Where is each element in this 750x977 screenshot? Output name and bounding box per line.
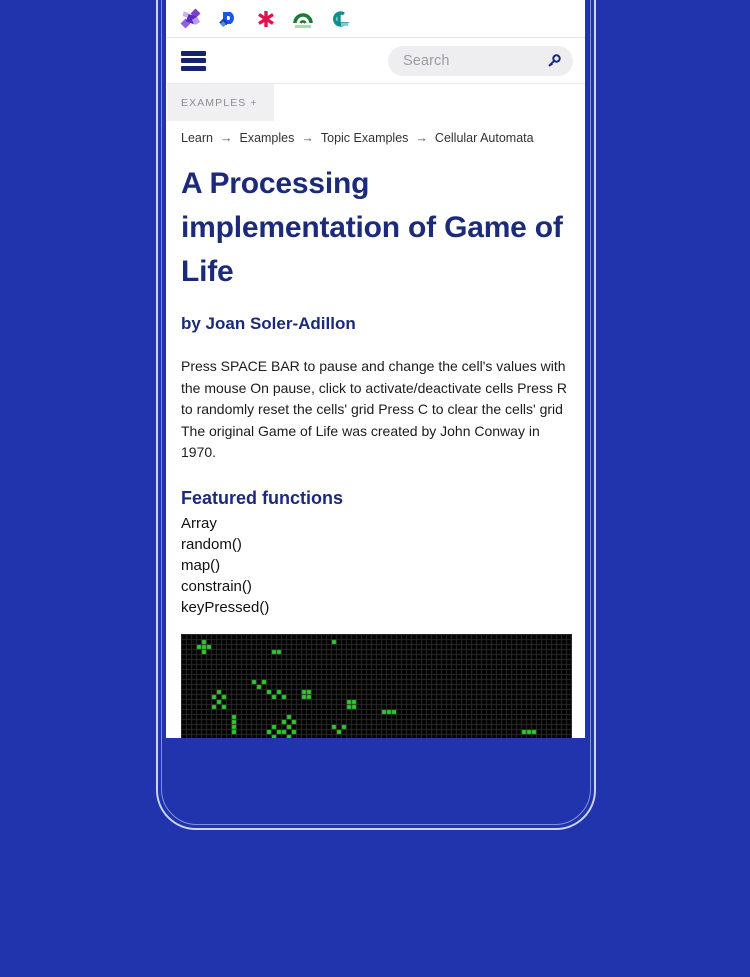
breadcrumb-item-cellular-automata[interactable]: Cellular Automata <box>435 131 534 145</box>
article-content: A Processing implementation of Game of L… <box>167 162 585 618</box>
list-item[interactable]: constrain() <box>181 576 571 597</box>
search-input[interactable]: Search <box>388 46 573 76</box>
author-byline: by Joan Soler-Adillon <box>181 314 571 334</box>
processing-foundation-logo[interactable] <box>180 5 217 33</box>
hamburger-menu-icon[interactable] <box>181 51 206 71</box>
hamburger-bar <box>181 58 206 63</box>
breadcrumb-separator-icon: → <box>294 131 321 145</box>
list-item[interactable]: random() <box>181 534 571 555</box>
logo-bar <box>167 0 585 38</box>
sketch-container <box>167 634 585 739</box>
list-item[interactable]: keyPressed() <box>181 597 571 618</box>
tab-examples[interactable]: EXAMPLES + <box>167 84 274 121</box>
breadcrumb-separator-icon: → <box>408 131 435 145</box>
article-description: Press SPACE BAR to pause and change the … <box>181 356 571 464</box>
tab-row: EXAMPLES + <box>167 84 585 121</box>
featured-functions-list: Array random() map() constrain() keyPres… <box>181 513 571 618</box>
navigation-bar: Search <box>167 38 585 84</box>
processing-logo[interactable] <box>254 5 291 33</box>
breadcrumb-separator-icon: → <box>213 131 240 145</box>
game-of-life-canvas[interactable] <box>181 634 572 739</box>
breadcrumb: Learn → Examples → Topic Examples → Cell… <box>167 121 585 145</box>
breadcrumb-item-examples[interactable]: Examples <box>239 131 294 145</box>
hamburger-bar <box>181 66 206 71</box>
page-title: A Processing implementation of Game of L… <box>181 162 571 294</box>
search-icon[interactable] <box>547 54 561 68</box>
list-item[interactable]: map() <box>181 555 571 576</box>
processing-py-logo[interactable] <box>291 5 328 33</box>
search-placeholder: Search <box>403 53 450 69</box>
list-item[interactable]: Array <box>181 513 571 534</box>
breadcrumb-item-topic-examples[interactable]: Topic Examples <box>321 131 409 145</box>
p5js-logo[interactable] <box>217 5 254 33</box>
breadcrumb-item-learn[interactable]: Learn <box>181 131 213 145</box>
p5js-editor-logo[interactable] <box>328 5 365 33</box>
phone-screen: Search EXAMPLES + Learn → Examples → Top… <box>166 0 585 738</box>
hamburger-bar <box>181 51 206 56</box>
featured-functions-heading: Featured functions <box>181 488 571 509</box>
